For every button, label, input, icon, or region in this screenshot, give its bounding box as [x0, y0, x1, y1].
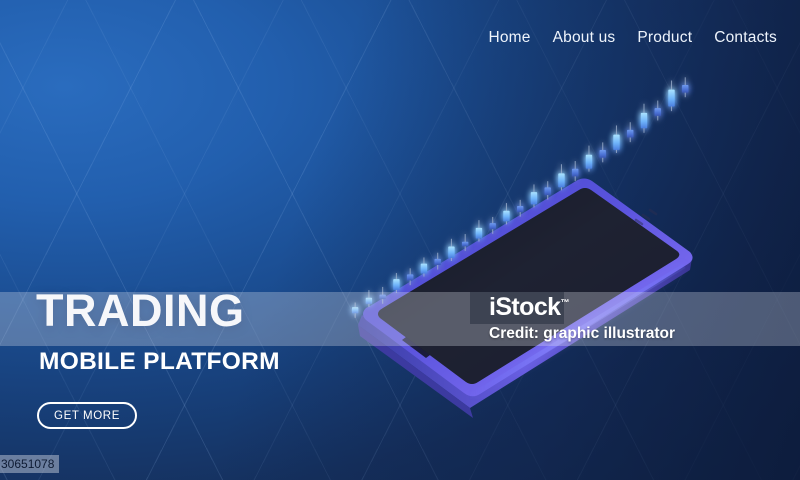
candle-body: [572, 169, 578, 177]
candle-body: [627, 130, 633, 138]
watermark-credit: Credit: graphic illustrator: [489, 325, 675, 343]
candle-body: [613, 135, 619, 150]
candle-body: [531, 192, 537, 204]
candle-body: [421, 264, 427, 274]
candle-body: [545, 187, 551, 195]
candle-body: [352, 307, 358, 313]
nav-item-about-us[interactable]: About us: [542, 26, 627, 50]
candle-body: [366, 298, 372, 304]
candle-body: [641, 113, 647, 128]
nav-item-product[interactable]: Product: [626, 26, 703, 50]
istock-logo-text: iStock™: [489, 294, 569, 320]
candle-body: [682, 85, 688, 93]
candle-body: [655, 108, 661, 116]
nav-item-contacts[interactable]: Contacts: [703, 26, 788, 50]
candle-body: [393, 279, 399, 290]
candlestick-chart: [340, 140, 710, 430]
hero-copy: TRADING MOBILE PLATFORM GET MORE: [36, 288, 280, 429]
candle-body: [462, 242, 468, 247]
candle-body: [517, 206, 523, 212]
candle-body: [476, 228, 482, 239]
candle-body: [600, 150, 606, 158]
candle-body: [503, 211, 509, 222]
candle-body: [668, 90, 674, 107]
candle-body: [490, 223, 496, 229]
candle-body: [448, 246, 454, 257]
main-navigation: Home About us Product Contacts: [477, 26, 788, 50]
istock-brand: iStock: [489, 293, 560, 321]
candle-body: [379, 295, 385, 300]
candle-body: [434, 259, 440, 265]
nav-item-home[interactable]: Home: [477, 26, 541, 50]
candle-body: [558, 173, 564, 187]
candle-body: [407, 274, 413, 280]
trademark-symbol: ™: [560, 298, 569, 308]
page-title: TRADING: [36, 288, 280, 333]
candle-body: [586, 155, 592, 169]
landing-page-hero: iStock™ Credit: graphic illustrator 3065…: [0, 0, 800, 480]
get-more-button[interactable]: GET MORE: [37, 402, 137, 429]
page-subtitle: MOBILE PLATFORM: [39, 348, 280, 376]
watermark-asset-id: 30651078: [0, 455, 59, 473]
